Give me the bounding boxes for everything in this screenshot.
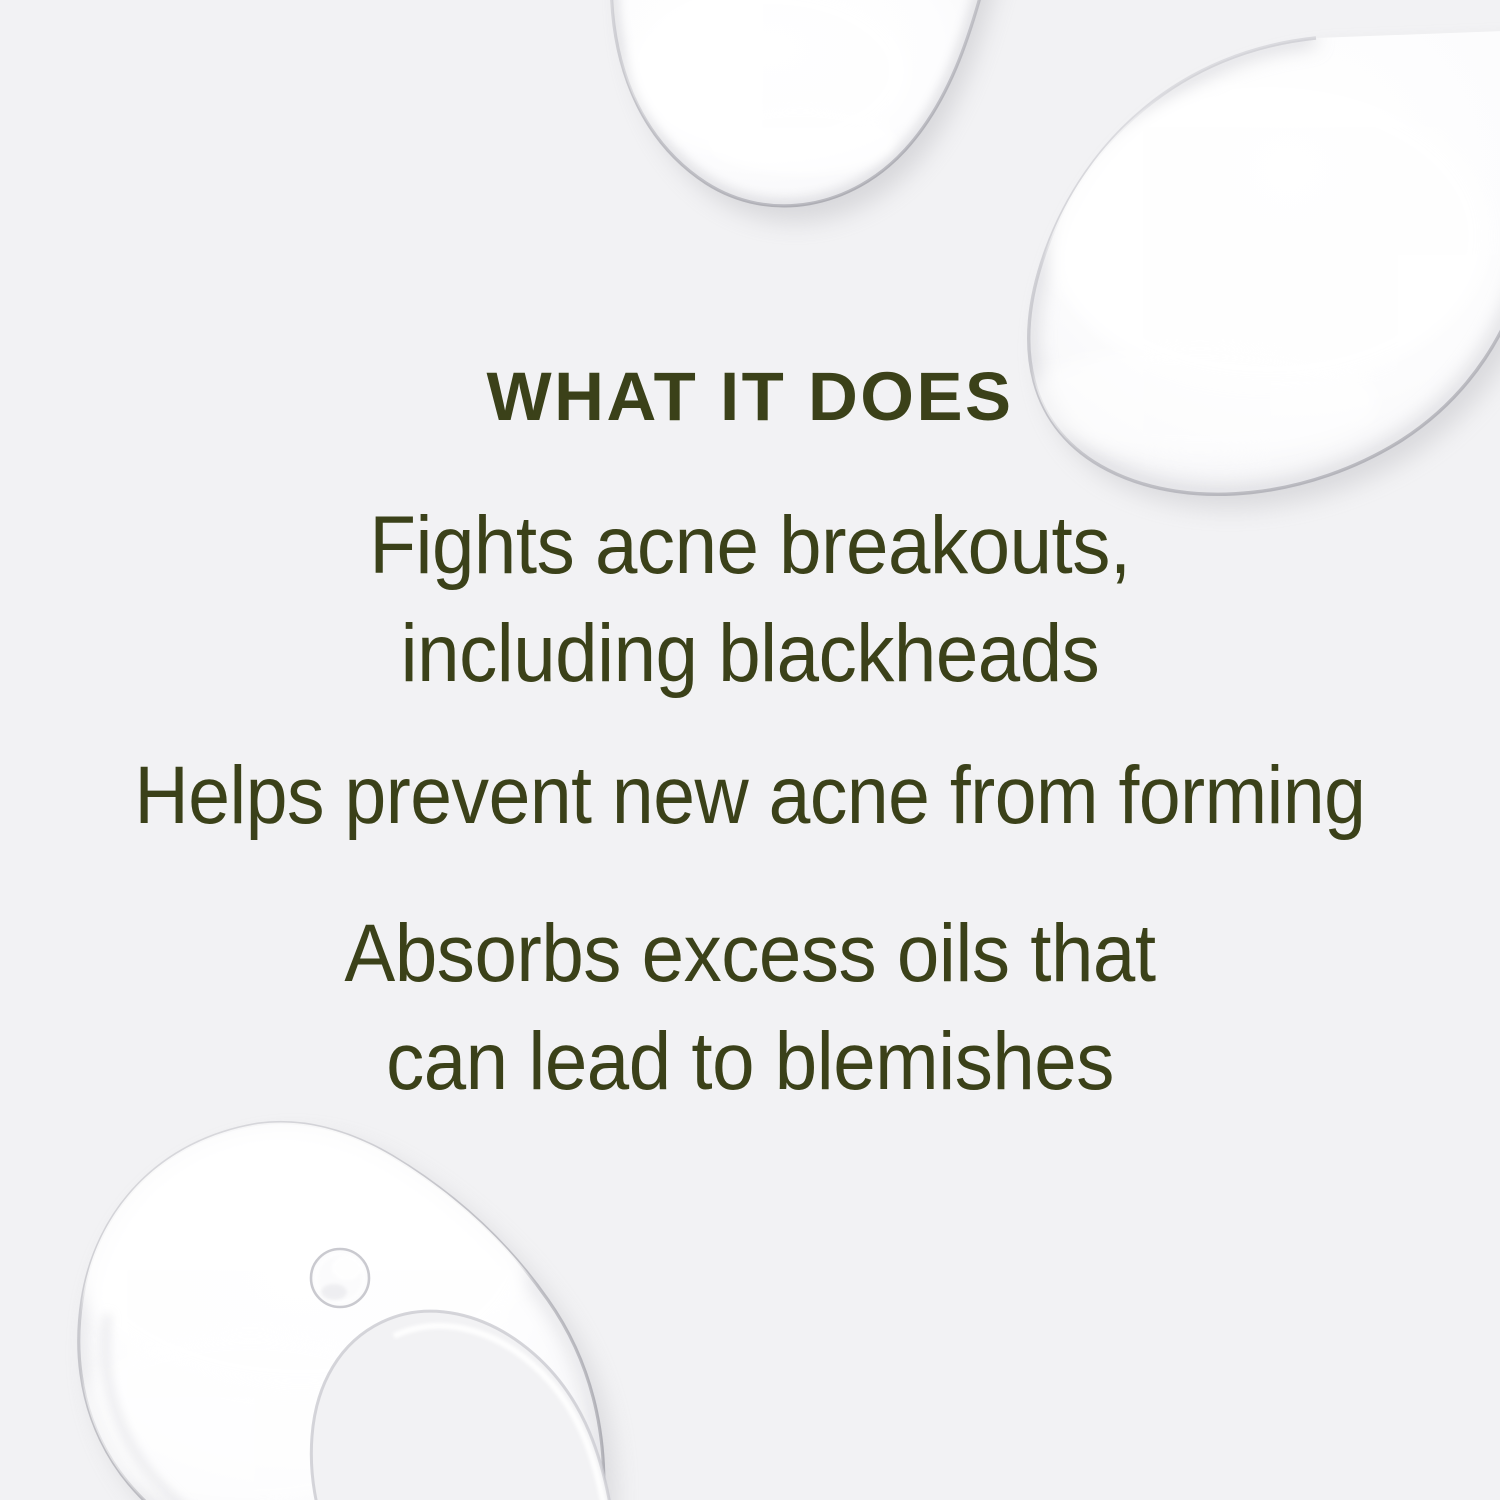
benefit-item-prevents-new-acne: Helps prevent new acne from forming — [64, 742, 1437, 850]
benefit-line: including blackheads — [53, 600, 1448, 708]
benefits-text-layer: WHAT IT DOES Fights acne breakouts, incl… — [0, 0, 1500, 1500]
benefit-line: Absorbs excess oils that — [53, 900, 1448, 1008]
benefit-line: Helps prevent new acne from forming — [64, 742, 1437, 850]
benefit-line: can lead to blemishes — [53, 1008, 1448, 1116]
page-title: WHAT IT DOES — [0, 362, 1500, 431]
benefit-item-absorbs-excess-oils: Absorbs excess oils that can lead to ble… — [53, 900, 1448, 1116]
product-benefits-graphic: WHAT IT DOES Fights acne breakouts, incl… — [0, 0, 1500, 1500]
benefit-line: Fights acne breakouts, — [53, 492, 1448, 600]
benefit-item-fights-acne-breakouts: Fights acne breakouts, including blackhe… — [53, 492, 1448, 708]
